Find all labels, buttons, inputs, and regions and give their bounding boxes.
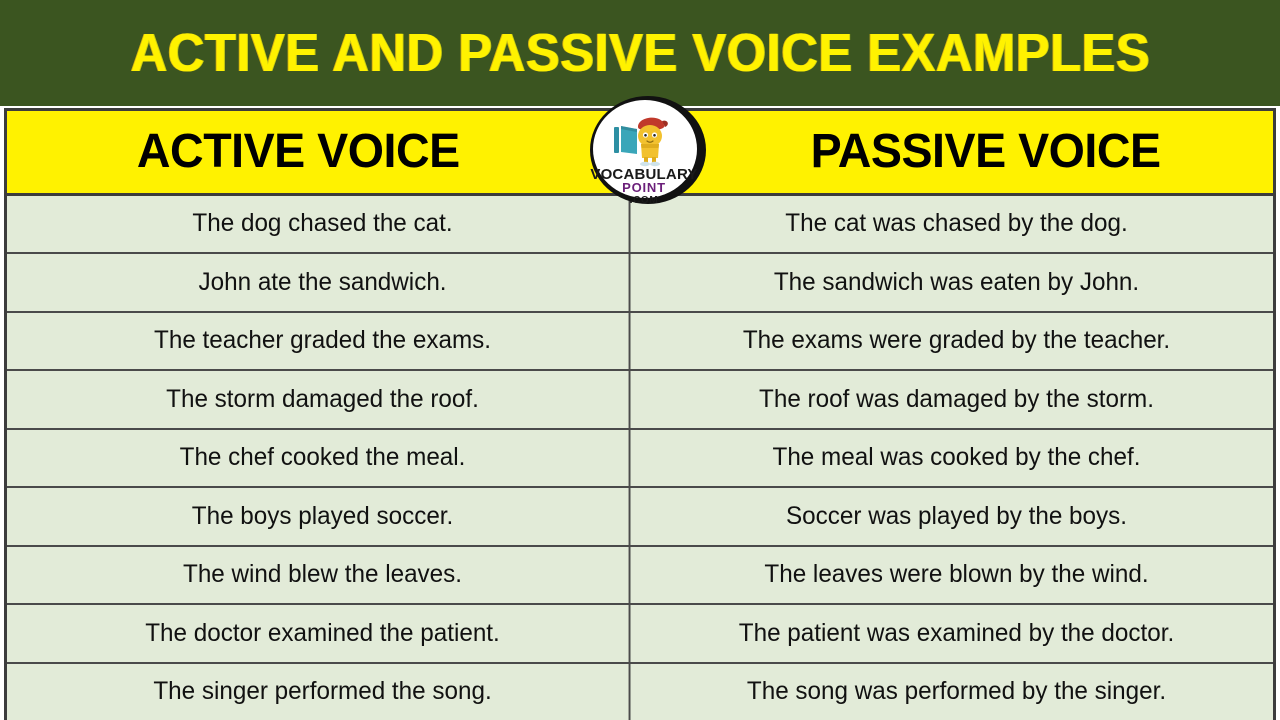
table-row: The teacher graded the exams. The exams … [7, 313, 1273, 371]
title-banner: ACTIVE AND PASSIVE VOICE EXAMPLES [0, 0, 1280, 106]
vocabulary-point-logo: VOCABULARY POINT .COM [588, 94, 708, 206]
cell-active-voice: John ate the sandwich. [16, 254, 630, 310]
cell-passive-voice: The cat was chased by the dog. [649, 196, 1263, 252]
logo-line-point: POINT [622, 180, 666, 195]
logo-line-com: .COM [630, 195, 659, 206]
book-icon [614, 126, 637, 154]
cell-passive-voice: The meal was cooked by the chef. [649, 430, 1263, 486]
table-row: The boys played soccer. Soccer was playe… [7, 488, 1273, 546]
table-row: The storm damaged the roof. The roof was… [7, 371, 1273, 429]
column-header-passive-voice: PASSIVE VOICE [649, 111, 1263, 193]
cell-active-voice: The dog chased the cat. [16, 196, 630, 252]
cell-passive-voice: The leaves were blown by the wind. [649, 547, 1263, 603]
table-row: The doctor examined the patient. The pat… [7, 605, 1273, 663]
cell-active-voice: The chef cooked the meal. [16, 430, 630, 486]
page-title: ACTIVE AND PASSIVE VOICE EXAMPLES [130, 26, 1150, 80]
table-row: The wind blew the leaves. The leaves wer… [7, 547, 1273, 605]
cell-passive-voice: Soccer was played by the boys. [649, 488, 1263, 544]
cell-active-voice: The boys played soccer. [16, 488, 630, 544]
cell-active-voice: The storm damaged the roof. [16, 371, 630, 427]
cell-active-voice: The singer performed the song. [16, 664, 630, 720]
cell-passive-voice: The patient was examined by the doctor. [649, 605, 1263, 661]
cell-active-voice: The wind blew the leaves. [16, 547, 630, 603]
table-row: John ate the sandwich. The sandwich was … [7, 254, 1273, 312]
cell-passive-voice: The exams were graded by the teacher. [649, 313, 1263, 369]
cell-active-voice: The teacher graded the exams. [16, 313, 630, 369]
cell-passive-voice: The roof was damaged by the storm. [649, 371, 1263, 427]
table-row: The chef cooked the meal. The meal was c… [7, 430, 1273, 488]
cell-passive-voice: The sandwich was eaten by John. [649, 254, 1263, 310]
column-header-active-voice: ACTIVE VOICE [16, 111, 630, 193]
worksheet-page: ACTIVE AND PASSIVE VOICE EXAMPLES ACTIVE… [0, 0, 1280, 720]
cell-active-voice: The doctor examined the patient. [16, 605, 630, 661]
table-row: The singer performed the song. The song … [7, 664, 1273, 720]
table-body: The dog chased the cat. The cat was chas… [7, 196, 1273, 720]
cell-passive-voice: The song was performed by the singer. [649, 664, 1263, 720]
